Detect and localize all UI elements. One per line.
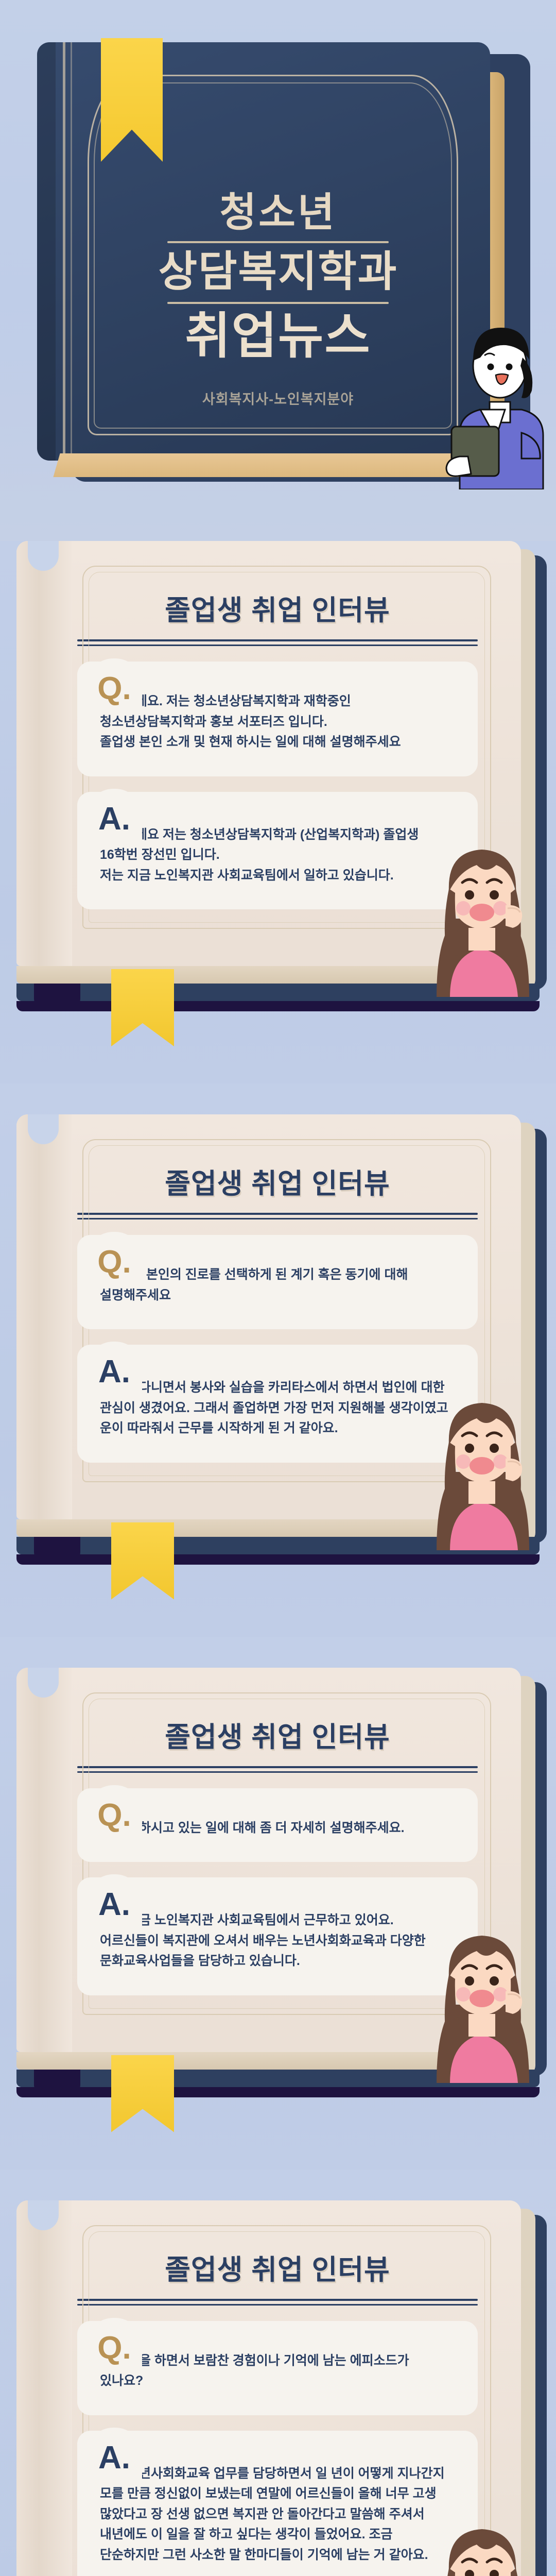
answer-block: A. 처음 노년사회화교육 업무를 담당하면서 일 년이 어떻게 지나간지 모를…	[77, 2431, 478, 2576]
question-badge: Q.	[86, 1785, 142, 1839]
title-divider	[77, 1213, 478, 1219]
question-badge: Q.	[86, 658, 142, 712]
book-bottom-edge	[53, 453, 472, 477]
book-cover-shadow-bottom	[16, 1554, 540, 1565]
interview-book-2: 졸업생 취업 인터뷰 Q. 졸업 후, 본인의 진로를 선택하게 된 계기 혹은…	[16, 1114, 540, 1565]
question-block: Q. 졸업 후, 본인의 진로를 선택하게 된 계기 혹은 동기에 대해 설명해…	[77, 1235, 478, 1329]
page-gutter	[16, 2200, 72, 2576]
cover-title-line2: 상담복지학과	[0, 248, 556, 296]
student-character-illustration	[419, 1380, 543, 1550]
interview-book-1: 졸업생 취업 인터뷰 Q. 안녕하세요. 저는 청소년상담복지학과 재학중인 청…	[16, 541, 540, 1011]
cover-divider-top	[167, 241, 389, 243]
answer-block: A. 안녕하세요 저는 청소년상담복지학과 (산업복지학과) 졸업생 16학번 …	[77, 792, 478, 910]
student-character-illustration	[419, 827, 543, 997]
answer-block: A. 학교를 다니면서 봉사와 실습을 카리타스에서 하면서 법인에 대한 관심…	[77, 1345, 478, 1463]
answer-badge: A.	[86, 1342, 142, 1395]
card-title: 졸업생 취업 인터뷰	[77, 587, 478, 628]
title-divider	[77, 1766, 478, 1773]
card-title: 졸업생 취업 인터뷰	[77, 2247, 478, 2287]
student-character-illustration	[419, 1913, 543, 2083]
card-title: 졸업생 취업 인터뷰	[77, 1714, 478, 1755]
question-badge: Q.	[86, 1232, 142, 1285]
answer-text: 처음 노년사회화교육 업무를 담당하면서 일 년이 어떻게 지나간지 모를 만큼…	[100, 2464, 455, 2566]
question-text: 졸업 후, 본인의 진로를 선택하게 된 계기 혹은 동기에 대해 설명해주세요	[100, 1265, 455, 1306]
question-block: Q. 본인이 하시고 있는 일에 대해 좀 더 자세히 설명해주세요.	[77, 1788, 478, 1862]
interview-book-4: 졸업생 취업 인터뷰 Q. 그 직업을 하면서 보람찬 경험이나 기억에 남는 …	[16, 2200, 540, 2576]
answer-text: 학교를 다니면서 봉사와 실습을 카리타스에서 하면서 법인에 대한 관심이 생…	[100, 1378, 455, 1439]
interview-card-section-3: 졸업생 취업 인터뷰 Q. 본인이 하시고 있는 일에 대해 좀 더 자세히 설…	[0, 1637, 556, 2170]
answer-text: 저는 지금 노인복지관 사회교육팀에서 근무하고 있어요. 어르신들이 복지관에…	[100, 1910, 455, 1972]
page-gutter	[16, 1114, 72, 1519]
cover-hero: 청소년 상담복지학과 취업뉴스 사회복지사-노인복지분야	[0, 0, 556, 541]
question-text: 본인이 하시고 있는 일에 대해 좀 더 자세히 설명해주세요.	[100, 1818, 455, 1839]
interview-card-section-4: 졸업생 취업 인터뷰 Q. 그 직업을 하면서 보람찬 경험이나 기억에 남는 …	[0, 2170, 556, 2576]
book-cover-shadow-bottom	[16, 1001, 540, 1011]
title-divider	[77, 639, 478, 646]
interview-book-3: 졸업생 취업 인터뷰 Q. 본인이 하시고 있는 일에 대해 좀 더 자세히 설…	[16, 1668, 540, 2097]
question-text: 안녕하세요. 저는 청소년상담복지학과 재학중인 청소년상담복지학과 홍보 서포…	[100, 691, 455, 753]
interview-card-section-2: 졸업생 취업 인터뷰 Q. 졸업 후, 본인의 진로를 선택하게 된 계기 혹은…	[0, 1083, 556, 1637]
book-cover-shadow-bottom	[16, 2087, 540, 2097]
cover-divider-bottom	[167, 302, 389, 304]
page-gutter	[16, 541, 72, 966]
cover-title-line1: 청소년	[0, 191, 556, 235]
answer-block: A. 저는 지금 노인복지관 사회교육팀에서 근무하고 있어요. 어르신들이 복…	[77, 1877, 478, 1995]
page-gutter	[16, 1668, 72, 2052]
question-block: Q. 그 직업을 하면서 보람찬 경험이나 기억에 남는 에피소드가 있나요?	[77, 2321, 478, 2415]
question-badge: Q.	[86, 2318, 142, 2371]
interview-card-section-1: 졸업생 취업 인터뷰 Q. 안녕하세요. 저는 청소년상담복지학과 재학중인 청…	[0, 541, 556, 1083]
answer-badge: A.	[86, 2428, 142, 2481]
answer-badge: A.	[86, 1874, 142, 1928]
student-character-illustration	[419, 2506, 543, 2576]
answer-text: 안녕하세요 저는 청소년상담복지학과 (산업복지학과) 졸업생 16학번 장선민…	[100, 825, 455, 886]
question-block: Q. 안녕하세요. 저는 청소년상담복지학과 재학중인 청소년상담복지학과 홍보…	[77, 662, 478, 776]
answer-badge: A.	[86, 789, 142, 842]
presenter-character-illustration	[444, 304, 555, 489]
card-title: 졸업생 취업 인터뷰	[77, 1161, 478, 1201]
question-text: 그 직업을 하면서 보람찬 경험이나 기억에 남는 에피소드가 있나요?	[100, 2351, 455, 2392]
title-divider	[77, 2299, 478, 2306]
